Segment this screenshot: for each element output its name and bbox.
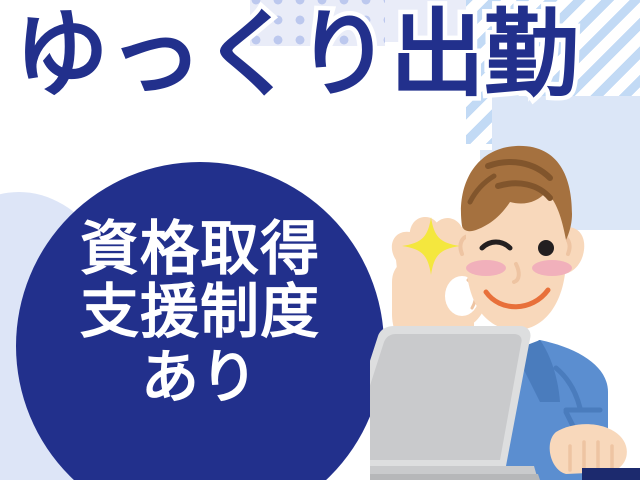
sparkle-icon bbox=[400, 215, 462, 277]
badge-line-2: 支援制度 bbox=[80, 281, 320, 344]
blush-right bbox=[532, 260, 572, 276]
open-eye bbox=[538, 240, 554, 256]
resting-hand bbox=[550, 424, 627, 474]
page-title: ゆっくり出勤 bbox=[14, 8, 578, 103]
job-ad-banner: 資格取得 支援制度 あり bbox=[0, 0, 640, 480]
badge-text-group: 資格取得 支援制度 あり bbox=[16, 162, 384, 480]
head bbox=[461, 146, 572, 330]
bottom-right-dark-edge bbox=[582, 468, 640, 480]
badge-line-3: あり bbox=[141, 347, 259, 408]
businessman-illustration bbox=[370, 140, 640, 480]
badge-line-1: 資格取得 bbox=[80, 218, 320, 281]
blush-left bbox=[466, 260, 506, 276]
